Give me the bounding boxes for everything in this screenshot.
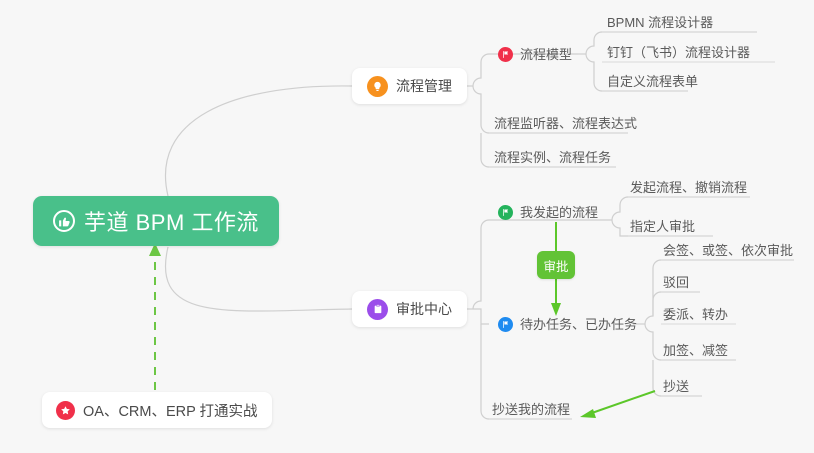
node-cc[interactable]: 抄送 <box>660 375 692 400</box>
node-label-cc-to-me: 抄送我的流程 <box>492 403 570 416</box>
flag-icon <box>498 47 513 62</box>
node-label-process-instance: 流程实例、流程任务 <box>494 151 611 164</box>
node-label-add-remove-sign: 加签、减签 <box>663 344 728 357</box>
branch-node-approval-center[interactable]: 审批中心 <box>352 291 467 327</box>
mindmap-canvas: 芋道 BPM 工作流 流程管理 流程模型 BPMN 流程设计器 钉钉（飞书）流程… <box>0 0 814 453</box>
node-label-delegate-transfer: 委派、转办 <box>663 308 728 321</box>
branch-label-process-management: 流程管理 <box>396 76 452 96</box>
node-label-cc: 抄送 <box>663 380 689 393</box>
cc-flow-arrow <box>580 391 655 418</box>
star-badge-icon <box>56 401 75 420</box>
node-label-assignee-approval: 指定人审批 <box>630 220 695 233</box>
flag-icon <box>498 317 513 332</box>
node-label-todo-done-tasks: 待办任务、已办任务 <box>520 318 637 331</box>
node-start-cancel-process[interactable]: 发起流程、撤销流程 <box>627 176 750 201</box>
node-process-listener[interactable]: 流程监听器、流程表达式 <box>491 112 640 137</box>
node-my-initiated[interactable]: 我发起的流程 <box>495 201 601 226</box>
node-countersign[interactable]: 会签、或签、依次审批 <box>660 239 796 264</box>
node-label-process-model: 流程模型 <box>520 48 572 61</box>
node-label-reject: 驳回 <box>663 276 689 289</box>
node-label-start-cancel-process: 发起流程、撤销流程 <box>630 181 747 194</box>
node-todo-done-tasks[interactable]: 待办任务、已办任务 <box>495 313 640 338</box>
node-process-model[interactable]: 流程模型 <box>495 43 575 68</box>
integration-note-node[interactable]: OA、CRM、ERP 打通实战 <box>42 392 272 428</box>
node-cc-to-me[interactable]: 抄送我的流程 <box>489 398 573 423</box>
branch-label-approval-center: 审批中心 <box>396 299 452 319</box>
node-label-countersign: 会签、或签、依次审批 <box>663 244 793 257</box>
node-label-my-initiated: 我发起的流程 <box>520 206 598 219</box>
branch-node-process-management[interactable]: 流程管理 <box>352 68 467 104</box>
node-label-custom-process-form: 自定义流程表单 <box>607 75 698 88</box>
thumbs-up-icon <box>53 210 75 232</box>
node-reject[interactable]: 驳回 <box>660 271 692 296</box>
node-label-process-listener: 流程监听器、流程表达式 <box>494 117 637 130</box>
root-label: 芋道 BPM 工作流 <box>84 205 259 237</box>
node-dingtalk-feishu-designer[interactable]: 钉钉（飞书）流程设计器 <box>604 41 753 66</box>
approval-pill-label: 审批 <box>543 256 568 275</box>
node-process-instance[interactable]: 流程实例、流程任务 <box>491 146 614 171</box>
node-label-bpmn-designer: BPMN 流程设计器 <box>607 16 713 29</box>
root-node[interactable]: 芋道 BPM 工作流 <box>33 196 279 246</box>
node-add-remove-sign[interactable]: 加签、减签 <box>660 339 731 364</box>
lightbulb-icon <box>367 76 388 97</box>
node-custom-process-form[interactable]: 自定义流程表单 <box>604 70 701 95</box>
integration-dashed-arrow <box>149 243 161 390</box>
node-bpmn-designer[interactable]: BPMN 流程设计器 <box>604 11 716 36</box>
node-label-dingtalk-feishu-designer: 钉钉（飞书）流程设计器 <box>607 46 750 59</box>
approval-pill-annotation: 审批 <box>537 251 575 279</box>
node-delegate-transfer[interactable]: 委派、转办 <box>660 303 731 328</box>
flag-icon <box>498 205 513 220</box>
integration-note-label: OA、CRM、ERP 打通实战 <box>83 400 258 421</box>
node-assignee-approval[interactable]: 指定人审批 <box>627 215 698 240</box>
clipboard-icon <box>367 299 388 320</box>
